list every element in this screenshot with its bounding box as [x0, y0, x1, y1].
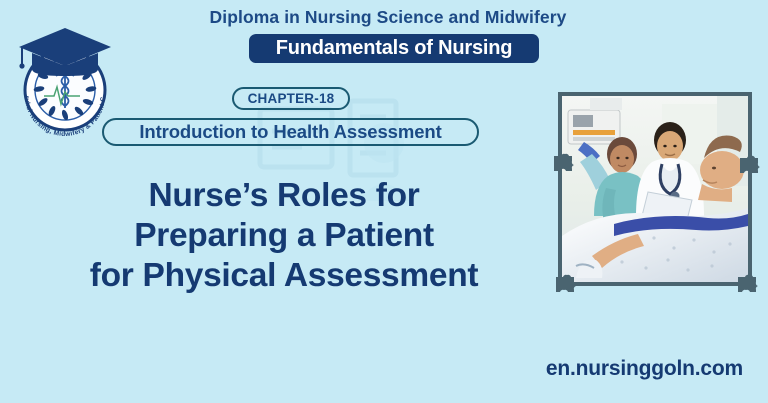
presentation-slide: Gurukul Nursing, Midwifery & Patient Car… — [0, 0, 768, 403]
chapter-badge-label: CHAPTER-18 — [248, 92, 335, 106]
chapter-topic-badge: Introduction to Health Assessment — [102, 118, 479, 146]
chapter-topic-label: Introduction to Health Assessment — [139, 123, 441, 142]
course-badge: Fundamentals of Nursing — [249, 34, 539, 63]
page-title: Nurse’s Roles for Preparing a Patient fo… — [14, 176, 554, 297]
clinical-assessment-photo — [558, 92, 752, 286]
graduation-cap-icon — [19, 28, 111, 76]
gurukul-nursing-logo: Gurukul Nursing, Midwifery & Patient Car… — [8, 16, 120, 138]
course-badge-label: Fundamentals of Nursing — [276, 38, 513, 58]
program-line: Diploma in Nursing Science and Midwifery — [0, 7, 768, 28]
title-line-2: Preparing a Patient — [14, 216, 554, 256]
website-url[interactable]: en.nursinggoln.com — [546, 357, 743, 381]
chapter-badge: CHAPTER-18 — [232, 87, 350, 110]
title-line-3: for Physical Assessment — [14, 256, 554, 296]
photo-image — [562, 96, 748, 282]
title-line-1: Nurse’s Roles for — [14, 176, 554, 216]
program-line-text: Diploma in Nursing Science and Midwifery — [210, 7, 567, 28]
